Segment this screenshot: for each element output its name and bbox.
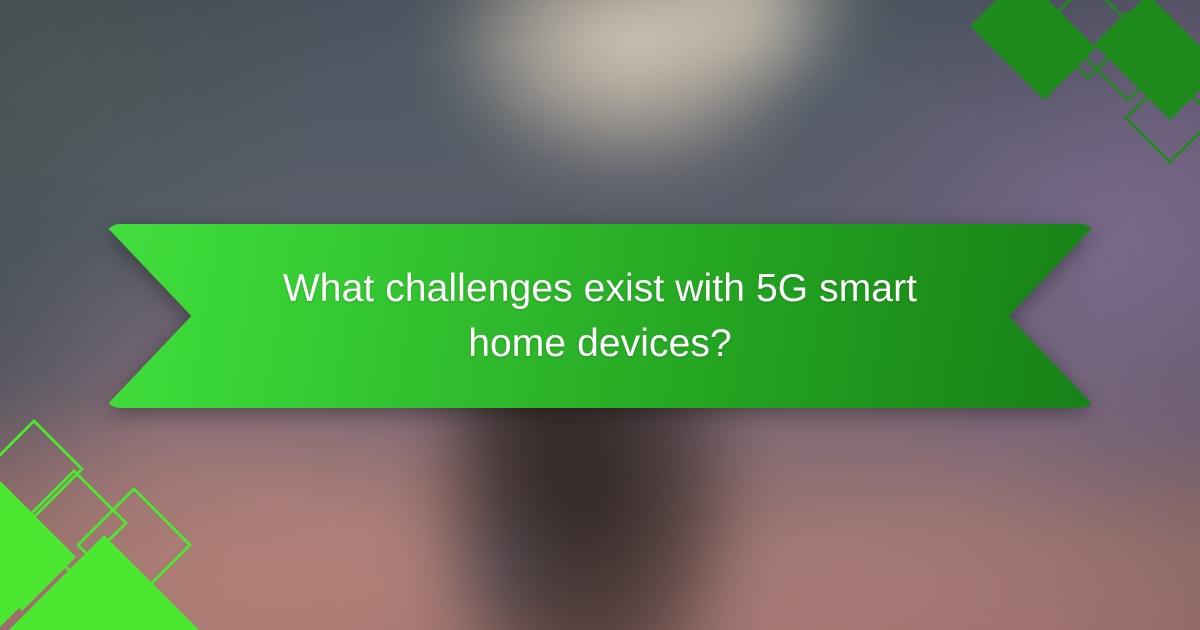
headline-text: What challenges exist with 5G smart home… bbox=[253, 224, 947, 408]
headline-banner: What challenges exist with 5G smart home… bbox=[104, 224, 1096, 408]
social-card: What challenges exist with 5G smart home… bbox=[0, 0, 1200, 630]
